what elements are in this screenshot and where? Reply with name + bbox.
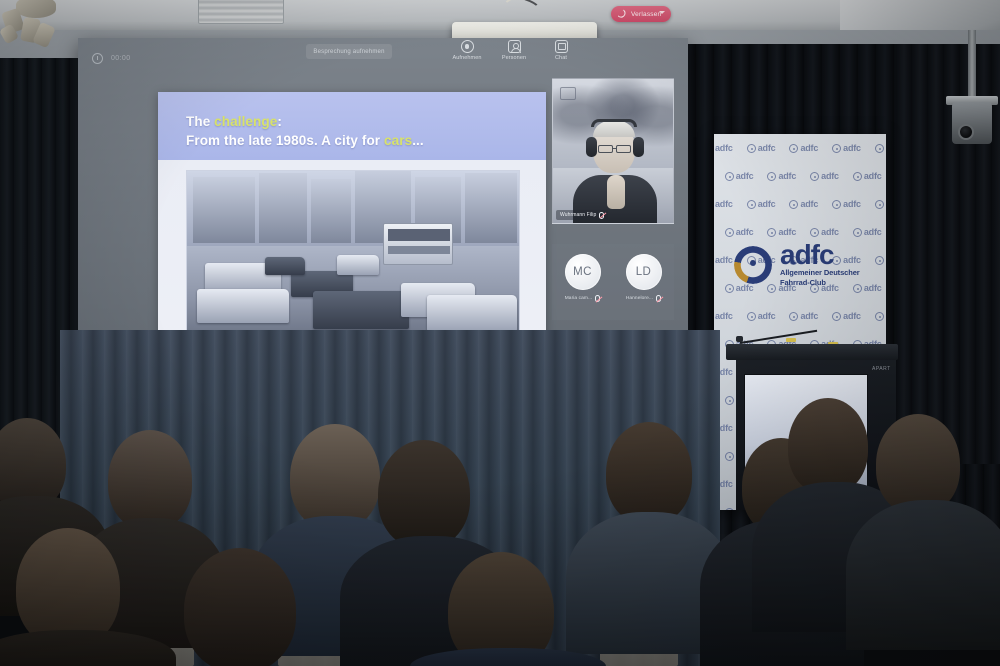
avatar-tiles: MC Maria cam... LD Hannelore...: [552, 244, 674, 320]
projection-screen: 00:00 Besprechung aufnehmen Aufnehmen Pe…: [78, 38, 688, 376]
adfc-pattern-text: adfc: [758, 199, 776, 209]
avatar: LD: [626, 254, 662, 290]
leave-meeting-button[interactable]: Verlassen: [611, 6, 671, 22]
adfc-ring-icon: [725, 284, 734, 293]
avatar-tile[interactable]: LD Hannelore...: [617, 254, 671, 302]
chat-button[interactable]: Chat: [546, 40, 576, 61]
record-label: Aufnehmen: [452, 55, 482, 61]
banner-pattern-logo: adfc: [875, 311, 886, 321]
adfc-ring-icon: [875, 200, 884, 209]
adfc-ring-icon: [832, 312, 841, 321]
people-label: Personen: [499, 55, 529, 61]
adfc-ring-icon: [789, 200, 798, 209]
people-button[interactable]: Personen: [499, 40, 529, 61]
adfc-ring-icon: [725, 228, 734, 237]
audience-head: [606, 422, 692, 524]
ceiling-camera: [952, 102, 992, 144]
adfc-ring-icon: [810, 228, 819, 237]
audience-head: [788, 398, 868, 494]
adfc-pattern-text: adfc: [800, 199, 818, 209]
banner-pattern-logo: adfc: [789, 143, 818, 153]
adfc-pattern-text: adfc: [821, 227, 839, 237]
adfc-pattern-text: adfc: [778, 227, 796, 237]
lectern-brand-label: APART: [872, 366, 891, 372]
adfc-pattern-text: adfc: [715, 143, 733, 153]
artwork-signature: [560, 87, 576, 100]
banner-pattern-logo: adfc: [789, 311, 818, 321]
record-button[interactable]: Aufnehmen: [452, 40, 482, 61]
banner-pattern-row: adfcadfcadfcadfcadfc: [714, 134, 886, 162]
timer-value: 00:00: [111, 55, 131, 62]
slide-title-band: The challenge: From the late 1980s. A ci…: [158, 92, 546, 160]
adfc-pattern-text: adfc: [758, 311, 776, 321]
audience-head: [876, 414, 960, 514]
headphone-band-icon: [591, 119, 637, 127]
adfc-ring-icon: [767, 228, 776, 237]
adfc-pattern-text: adfc: [778, 171, 796, 181]
chat-icon: [555, 40, 568, 53]
adfc-tagline-2: Fahrrad-Club: [780, 278, 860, 288]
slide-title-highlight: challenge: [214, 114, 277, 129]
mic-muted-icon: [595, 295, 600, 302]
mic-muted-icon: [599, 212, 604, 219]
banner-pattern-row: adfcadfcadfcadfcadfc: [714, 190, 886, 218]
audience-head: [290, 424, 380, 530]
banner-pattern-logo: adfc: [767, 227, 796, 237]
participant-hand: [607, 175, 625, 209]
adfc-ring-icon: [875, 144, 884, 153]
mic-muted-icon: [656, 295, 661, 302]
participant-name-text: Wuhrmann Filip: [560, 212, 596, 218]
banner-pattern-logo: adfc: [747, 199, 776, 209]
banner-pattern-logo: adfc: [832, 311, 861, 321]
mic-foam-ring-1: [786, 338, 796, 342]
adfc-pattern-text: adfc: [843, 311, 861, 321]
adfc-pattern-text: adfc: [715, 199, 733, 209]
slide-title: The challenge:: [186, 112, 546, 131]
camera-lens-icon: [958, 124, 974, 140]
adfc-pattern-text: adfc: [800, 311, 818, 321]
record-icon: [461, 40, 474, 53]
adfc-ring-icon: [747, 144, 756, 153]
banner-pattern-logo: adfc: [714, 143, 733, 153]
avatar-tile[interactable]: MC Maria cam...: [556, 254, 610, 302]
banner-pattern-logo: adfc: [853, 227, 882, 237]
photo-bus: [383, 223, 453, 265]
avatar-name-row: Maria cam...: [556, 295, 610, 302]
banner-pattern-logo: adfc: [810, 171, 839, 181]
adfc-pattern-text: adfc: [736, 227, 754, 237]
adfc-ring-icon: [725, 452, 734, 461]
glasses-right-icon: [616, 145, 631, 153]
adfc-tagline-1: Allgemeiner Deutscher: [780, 268, 860, 278]
adfc-pattern-text: adfc: [821, 171, 839, 181]
banner-pattern-logo: adfc: [875, 255, 886, 265]
banner-pattern-row: adfcadfcadfcadfcadfc: [714, 302, 886, 330]
banner-pattern-logo: adfc: [875, 199, 886, 209]
camera-mount-arm: [968, 30, 976, 106]
conference-room-photo: 00:00 Besprechung aufnehmen Aufnehmen Pe…: [0, 0, 1000, 666]
banner-pattern-row: adfcadfcadfcadfcadfc: [714, 162, 886, 190]
adfc-ring-icon: [832, 144, 841, 153]
headphone-left-icon: [586, 137, 597, 157]
avatar-name-row: Hannelore...: [617, 295, 671, 302]
adfc-ring-icon: [810, 172, 819, 181]
adfc-ring-icon: [734, 244, 772, 282]
banner-pattern-logo: adfc: [725, 227, 754, 237]
adfc-pattern-text: adfc: [843, 199, 861, 209]
leave-label: Verlassen: [631, 11, 661, 18]
adfc-ring-icon: [853, 172, 862, 181]
banner-pattern-logo: adfc: [810, 227, 839, 237]
audience-head: [378, 440, 470, 548]
participant-video-tile[interactable]: Wuhrmann Filip: [552, 78, 674, 224]
adfc-ring-icon: [725, 508, 734, 511]
adfc-ring-icon: [725, 172, 734, 181]
banner-pattern-logo: adfc: [832, 199, 861, 209]
slide-title-prefix: The: [186, 114, 214, 129]
banner-pattern-logo: adfc: [853, 171, 882, 181]
adfc-pattern-text: adfc: [758, 143, 776, 153]
glasses-left-icon: [598, 145, 613, 153]
banner-pattern-logo: adfc: [789, 199, 818, 209]
banner-pattern-logo: adfc: [714, 199, 733, 209]
adfc-ring-icon: [853, 228, 862, 237]
banner-pattern-logo: adfc: [747, 311, 776, 321]
audience-head: [108, 430, 192, 530]
avatar-name-text: Hannelore...: [626, 296, 653, 301]
slide-photo: [186, 170, 520, 334]
adfc-ring-icon: [875, 312, 884, 321]
meeting-timer: 00:00: [92, 53, 131, 64]
avatar-name-text: Maria cam...: [565, 296, 593, 301]
adfc-pattern-text: adfc: [736, 171, 754, 181]
slide-subtitle-prefix: From the late 1980s. A city for: [186, 133, 384, 148]
banner-pattern-logo: adfc: [747, 143, 776, 153]
banner-pattern-logo: adfc: [714, 311, 733, 321]
adfc-pattern-text: adfc: [864, 171, 882, 181]
adfc-pattern-text: adfc: [800, 143, 818, 153]
banner-pattern-logo: adfc: [832, 143, 861, 153]
adfc-logo: adfc Allgemeiner Deutscher Fahrrad-Club: [734, 242, 876, 304]
adfc-ring-icon: [789, 144, 798, 153]
adfc-pattern-text: adfc: [715, 255, 733, 265]
slide-subtitle-suffix: ...: [412, 133, 424, 148]
chevron-down-icon: [659, 11, 665, 14]
record-status-banner: Besprechung aufnehmen: [306, 44, 392, 59]
banner-pattern-logo: adfc: [714, 255, 733, 265]
audience-head: [184, 548, 296, 666]
adfc-pattern-text: adfc: [715, 311, 733, 321]
hangup-icon: [618, 9, 628, 19]
meeting-action-group: Aufnehmen Personen Chat: [452, 40, 576, 61]
adfc-pattern-text: adfc: [843, 143, 861, 153]
clock-icon: [92, 53, 103, 64]
slide-subtitle-highlight: cars: [384, 133, 412, 148]
ceiling-spotlights-icon: [2, 0, 66, 58]
banner-pattern-logo: adfc: [875, 143, 886, 153]
banner-pattern-logo: adfc: [767, 171, 796, 181]
slide-title-suffix: :: [277, 114, 282, 129]
chat-label: Chat: [546, 55, 576, 61]
participant-name-label: Wuhrmann Filip: [556, 210, 608, 220]
adfc-ring-icon: [747, 200, 756, 209]
lectern-top: [726, 344, 898, 360]
avatar: MC: [565, 254, 601, 290]
adfc-ring-icon: [747, 312, 756, 321]
adfc-ring-icon: [875, 256, 884, 265]
adfc-ring-icon: [767, 172, 776, 181]
adfc-ring-icon: [832, 200, 841, 209]
adfc-ring-icon: [789, 312, 798, 321]
people-icon: [508, 40, 521, 53]
adfc-wordmark: adfc: [780, 242, 860, 268]
audience-shoulders: [846, 500, 1000, 650]
banner-pattern-logo: adfc: [725, 171, 754, 181]
mic-capsule-1: [736, 336, 743, 342]
slide-subtitle: From the late 1980s. A city for cars...: [186, 131, 546, 150]
headphone-right-icon: [633, 137, 644, 157]
air-vent: [198, 0, 284, 24]
adfc-ring-icon: [725, 396, 734, 405]
adfc-pattern-text: adfc: [864, 227, 882, 237]
